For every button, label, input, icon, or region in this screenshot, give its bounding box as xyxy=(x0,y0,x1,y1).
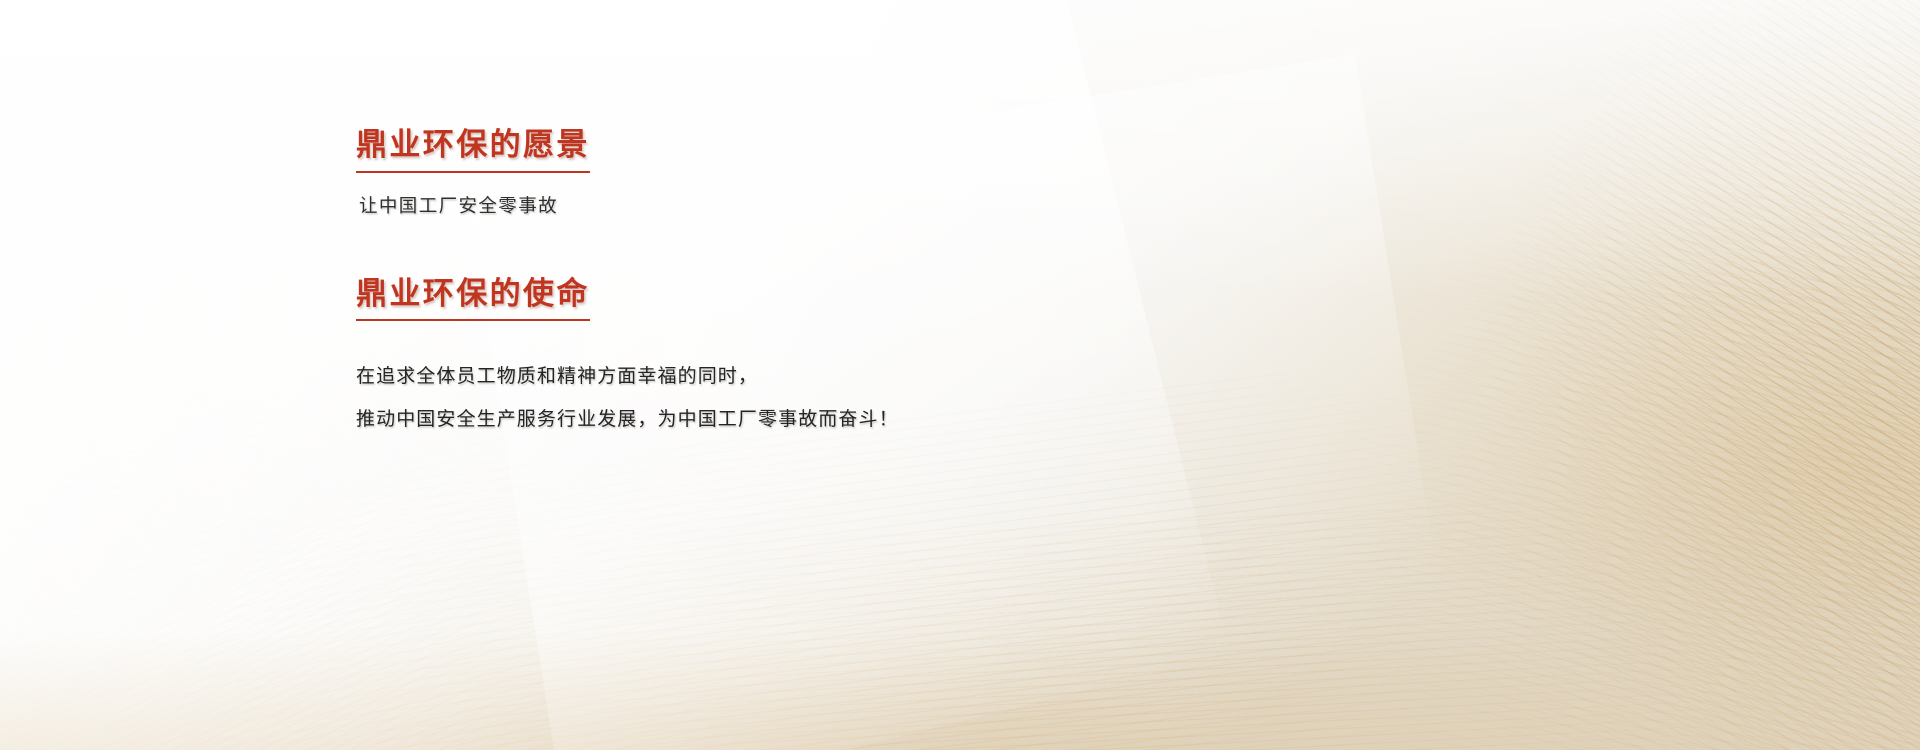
vision-heading-wrap: 鼎业环保的愿景 xyxy=(356,128,1250,173)
company-vision-mission-banner: 鼎业环保的愿景 让中国工厂安全零事故 鼎业环保的使命 在追求全体员工物质和精神方… xyxy=(0,0,1920,750)
mission-heading-wrap: 鼎业环保的使命 xyxy=(356,277,1250,322)
mission-block: 鼎业环保的使命 在追求全体员工物质和精神方面幸福的同时， 推动中国安全生产服务行… xyxy=(350,277,1250,434)
vision-subtitle: 让中国工厂安全零事故 xyxy=(359,194,1250,220)
vision-heading: 鼎业环保的愿景 xyxy=(356,128,590,173)
banner-content: 鼎业环保的愿景 让中国工厂安全零事故 鼎业环保的使命 在追求全体员工物质和精神方… xyxy=(350,128,1250,433)
vision-block: 鼎业环保的愿景 让中国工厂安全零事故 xyxy=(350,128,1250,220)
mission-heading: 鼎业环保的使命 xyxy=(356,277,590,322)
mission-line-2: 推动中国安全生产服务行业发展，为中国工厂零事故而奋斗！ xyxy=(356,406,1250,434)
mission-line-1: 在追求全体员工物质和精神方面幸福的同时， xyxy=(356,363,1250,391)
